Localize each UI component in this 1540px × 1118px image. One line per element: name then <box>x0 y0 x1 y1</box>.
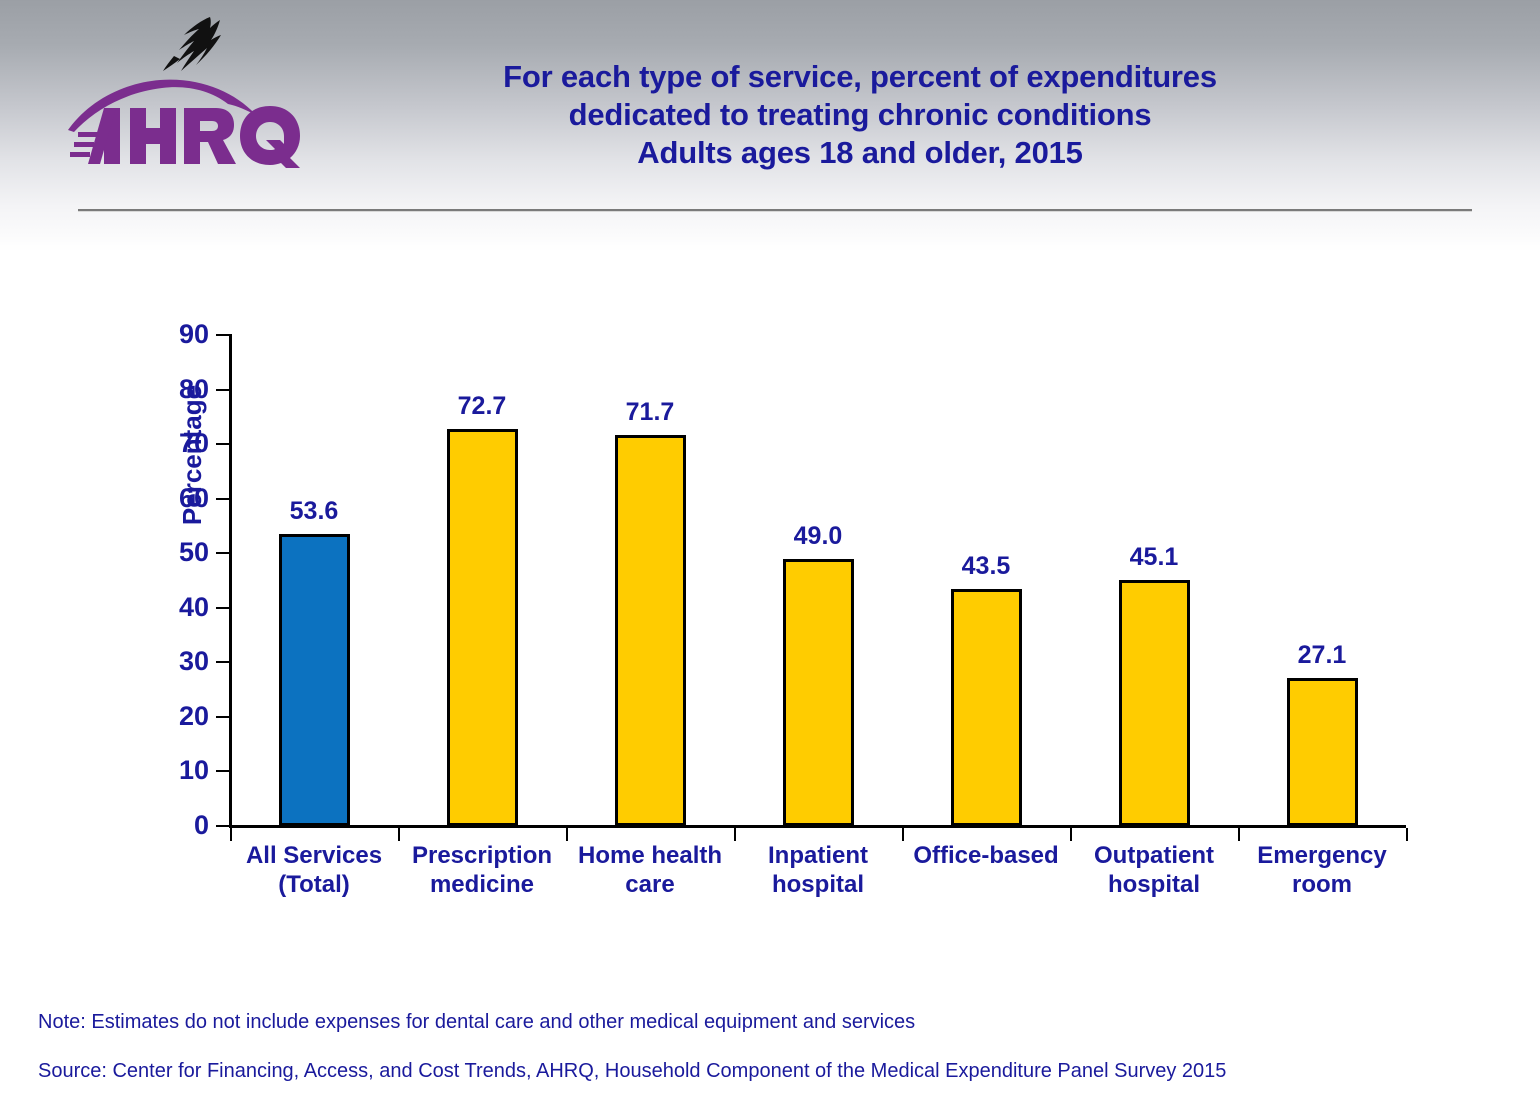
category-label-line: hospital <box>1059 870 1249 899</box>
bar-value-label-4: 43.5 <box>926 554 1046 579</box>
y-tick-label-text: 70 <box>139 430 209 457</box>
y-tick-label-80: 80 <box>120 376 210 403</box>
y-tick-50 <box>216 552 230 554</box>
y-tick-70 <box>216 443 230 445</box>
category-label-line: medicine <box>387 870 577 899</box>
category-label-5: Outpatienthospital <box>1059 841 1249 899</box>
y-tick-10 <box>216 770 230 772</box>
category-label-2: Home healthcare <box>555 841 745 899</box>
x-tick-6 <box>1238 828 1240 841</box>
y-tick-label-text: 20 <box>139 703 209 730</box>
bar-value-label-3: 49.0 <box>758 524 878 549</box>
category-label-line: Inpatient <box>723 841 913 870</box>
bar-5[interactable] <box>1119 580 1190 826</box>
bar-0[interactable] <box>279 534 350 826</box>
bar-1[interactable] <box>447 429 518 826</box>
x-tick-2 <box>566 828 568 841</box>
y-tick-label-30: 30 <box>120 648 210 675</box>
y-tick-label-60: 60 <box>120 485 210 512</box>
x-tick-7 <box>1406 828 1408 841</box>
source-text: Source: Center for Financing, Access, an… <box>38 1060 1226 1083</box>
y-tick-label-10: 10 <box>120 757 210 784</box>
bar-value-label-1: 72.7 <box>422 394 542 419</box>
y-tick-label-90: 90 <box>120 321 210 348</box>
y-tick-label-text: 60 <box>139 485 209 512</box>
y-tick-label-20: 20 <box>120 703 210 730</box>
bar-4[interactable] <box>951 589 1022 826</box>
bar-6[interactable] <box>1287 678 1358 826</box>
y-axis-line <box>229 334 232 828</box>
category-label-line: Emergency <box>1227 841 1417 870</box>
y-tick-label-text: 30 <box>139 648 209 675</box>
note-text: Note: Estimates do not include expenses … <box>38 1011 915 1034</box>
category-label-line: Prescription <box>387 841 577 870</box>
y-tick-label-text: 40 <box>139 594 209 621</box>
y-tick-label-text: 50 <box>139 539 209 566</box>
category-label-line: Home health <box>555 841 745 870</box>
x-tick-1 <box>398 828 400 841</box>
category-label-1: Prescriptionmedicine <box>387 841 577 899</box>
x-tick-4 <box>902 828 904 841</box>
category-label-line: Office-based <box>891 841 1081 870</box>
y-tick-label-40: 40 <box>120 594 210 621</box>
y-tick-label-70: 70 <box>120 430 210 457</box>
y-tick-40 <box>216 607 230 609</box>
category-label-6: Emergencyroom <box>1227 841 1417 899</box>
category-label-line: Outpatient <box>1059 841 1249 870</box>
category-label-line: hospital <box>723 870 913 899</box>
x-tick-5 <box>1070 828 1072 841</box>
y-tick-label-0: 0 <box>120 812 210 839</box>
y-tick-label-50: 50 <box>120 539 210 566</box>
category-label-line: (Total) <box>219 870 409 899</box>
y-tick-80 <box>216 389 230 391</box>
y-tick-20 <box>216 716 230 718</box>
y-tick-60 <box>216 498 230 500</box>
category-label-line: room <box>1227 870 1417 899</box>
category-label-4: Office-based <box>891 841 1081 870</box>
y-tick-label-text: 0 <box>139 812 209 839</box>
y-tick-label-text: 10 <box>139 757 209 784</box>
category-label-3: Inpatienthospital <box>723 841 913 899</box>
y-tick-90 <box>216 334 230 336</box>
y-tick-0 <box>216 825 230 827</box>
category-label-0: All Services(Total) <box>219 841 409 899</box>
bar-value-label-6: 27.1 <box>1262 643 1382 668</box>
bar-value-label-5: 45.1 <box>1094 545 1214 570</box>
y-tick-label-text: 80 <box>139 376 209 403</box>
y-tick-30 <box>216 661 230 663</box>
x-tick-0 <box>230 828 232 841</box>
y-tick-label-text: 90 <box>139 321 209 348</box>
category-label-line: care <box>555 870 745 899</box>
bar-2[interactable] <box>615 435 686 826</box>
category-label-line: All Services <box>219 841 409 870</box>
bar-value-label-0: 53.6 <box>254 499 374 524</box>
bar-3[interactable] <box>783 559 854 826</box>
bar-chart: Percentage 0102030405060708090 53.672.77… <box>0 0 1540 1118</box>
bar-value-label-2: 71.7 <box>590 400 710 425</box>
x-tick-3 <box>734 828 736 841</box>
